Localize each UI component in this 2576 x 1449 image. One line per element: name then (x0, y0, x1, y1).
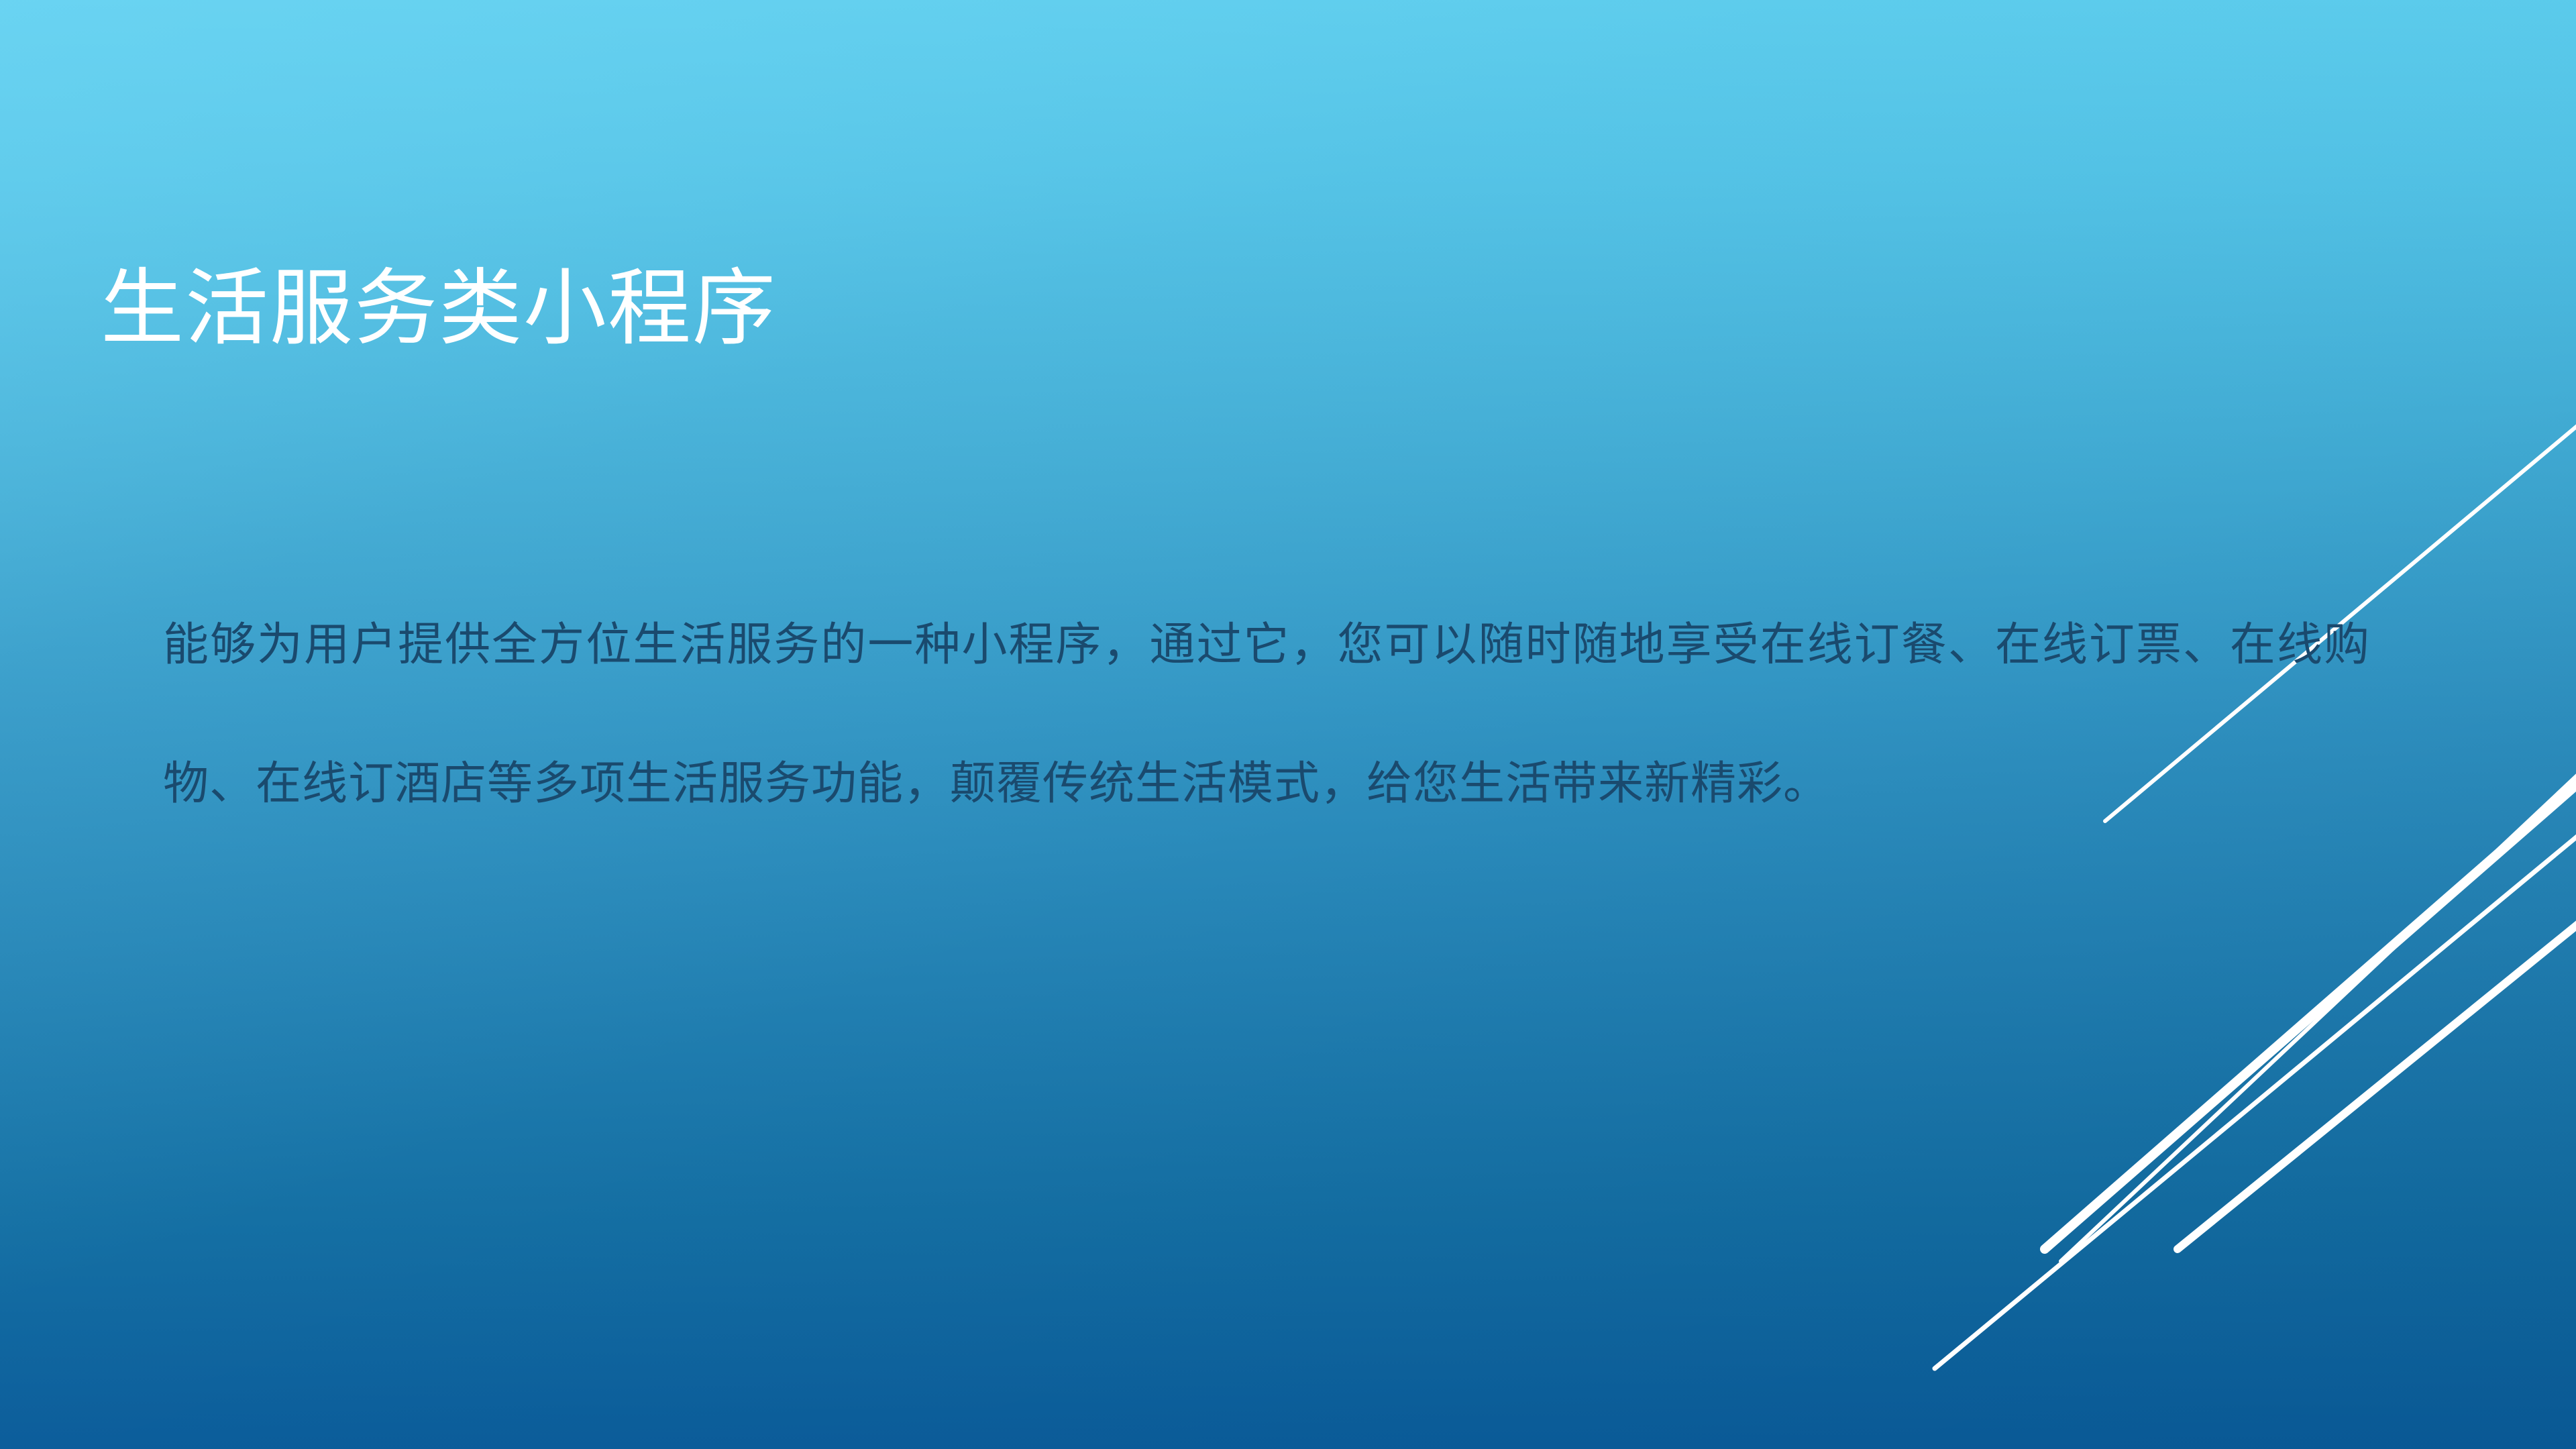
deco-line-1 (1935, 832, 2576, 1368)
slide-title: 生活服务类小程序 (101, 257, 1845, 361)
deco-line-5 (2178, 920, 2576, 1249)
slide-body: 能够为用户提供全方位生活服务的一种小程序，通过它，您可以随时随地享受在线订餐、在… (163, 530, 2370, 899)
slide-body-paragraph: 能够为用户提供全方位生活服务的一种小程序，通过它，您可以随时随地享受在线订餐、在… (163, 576, 2370, 853)
presentation-slide: 生活服务类小程序 能够为用户提供全方位生活服务的一种小程序，通过它，您可以随时随… (0, 0, 2576, 1449)
